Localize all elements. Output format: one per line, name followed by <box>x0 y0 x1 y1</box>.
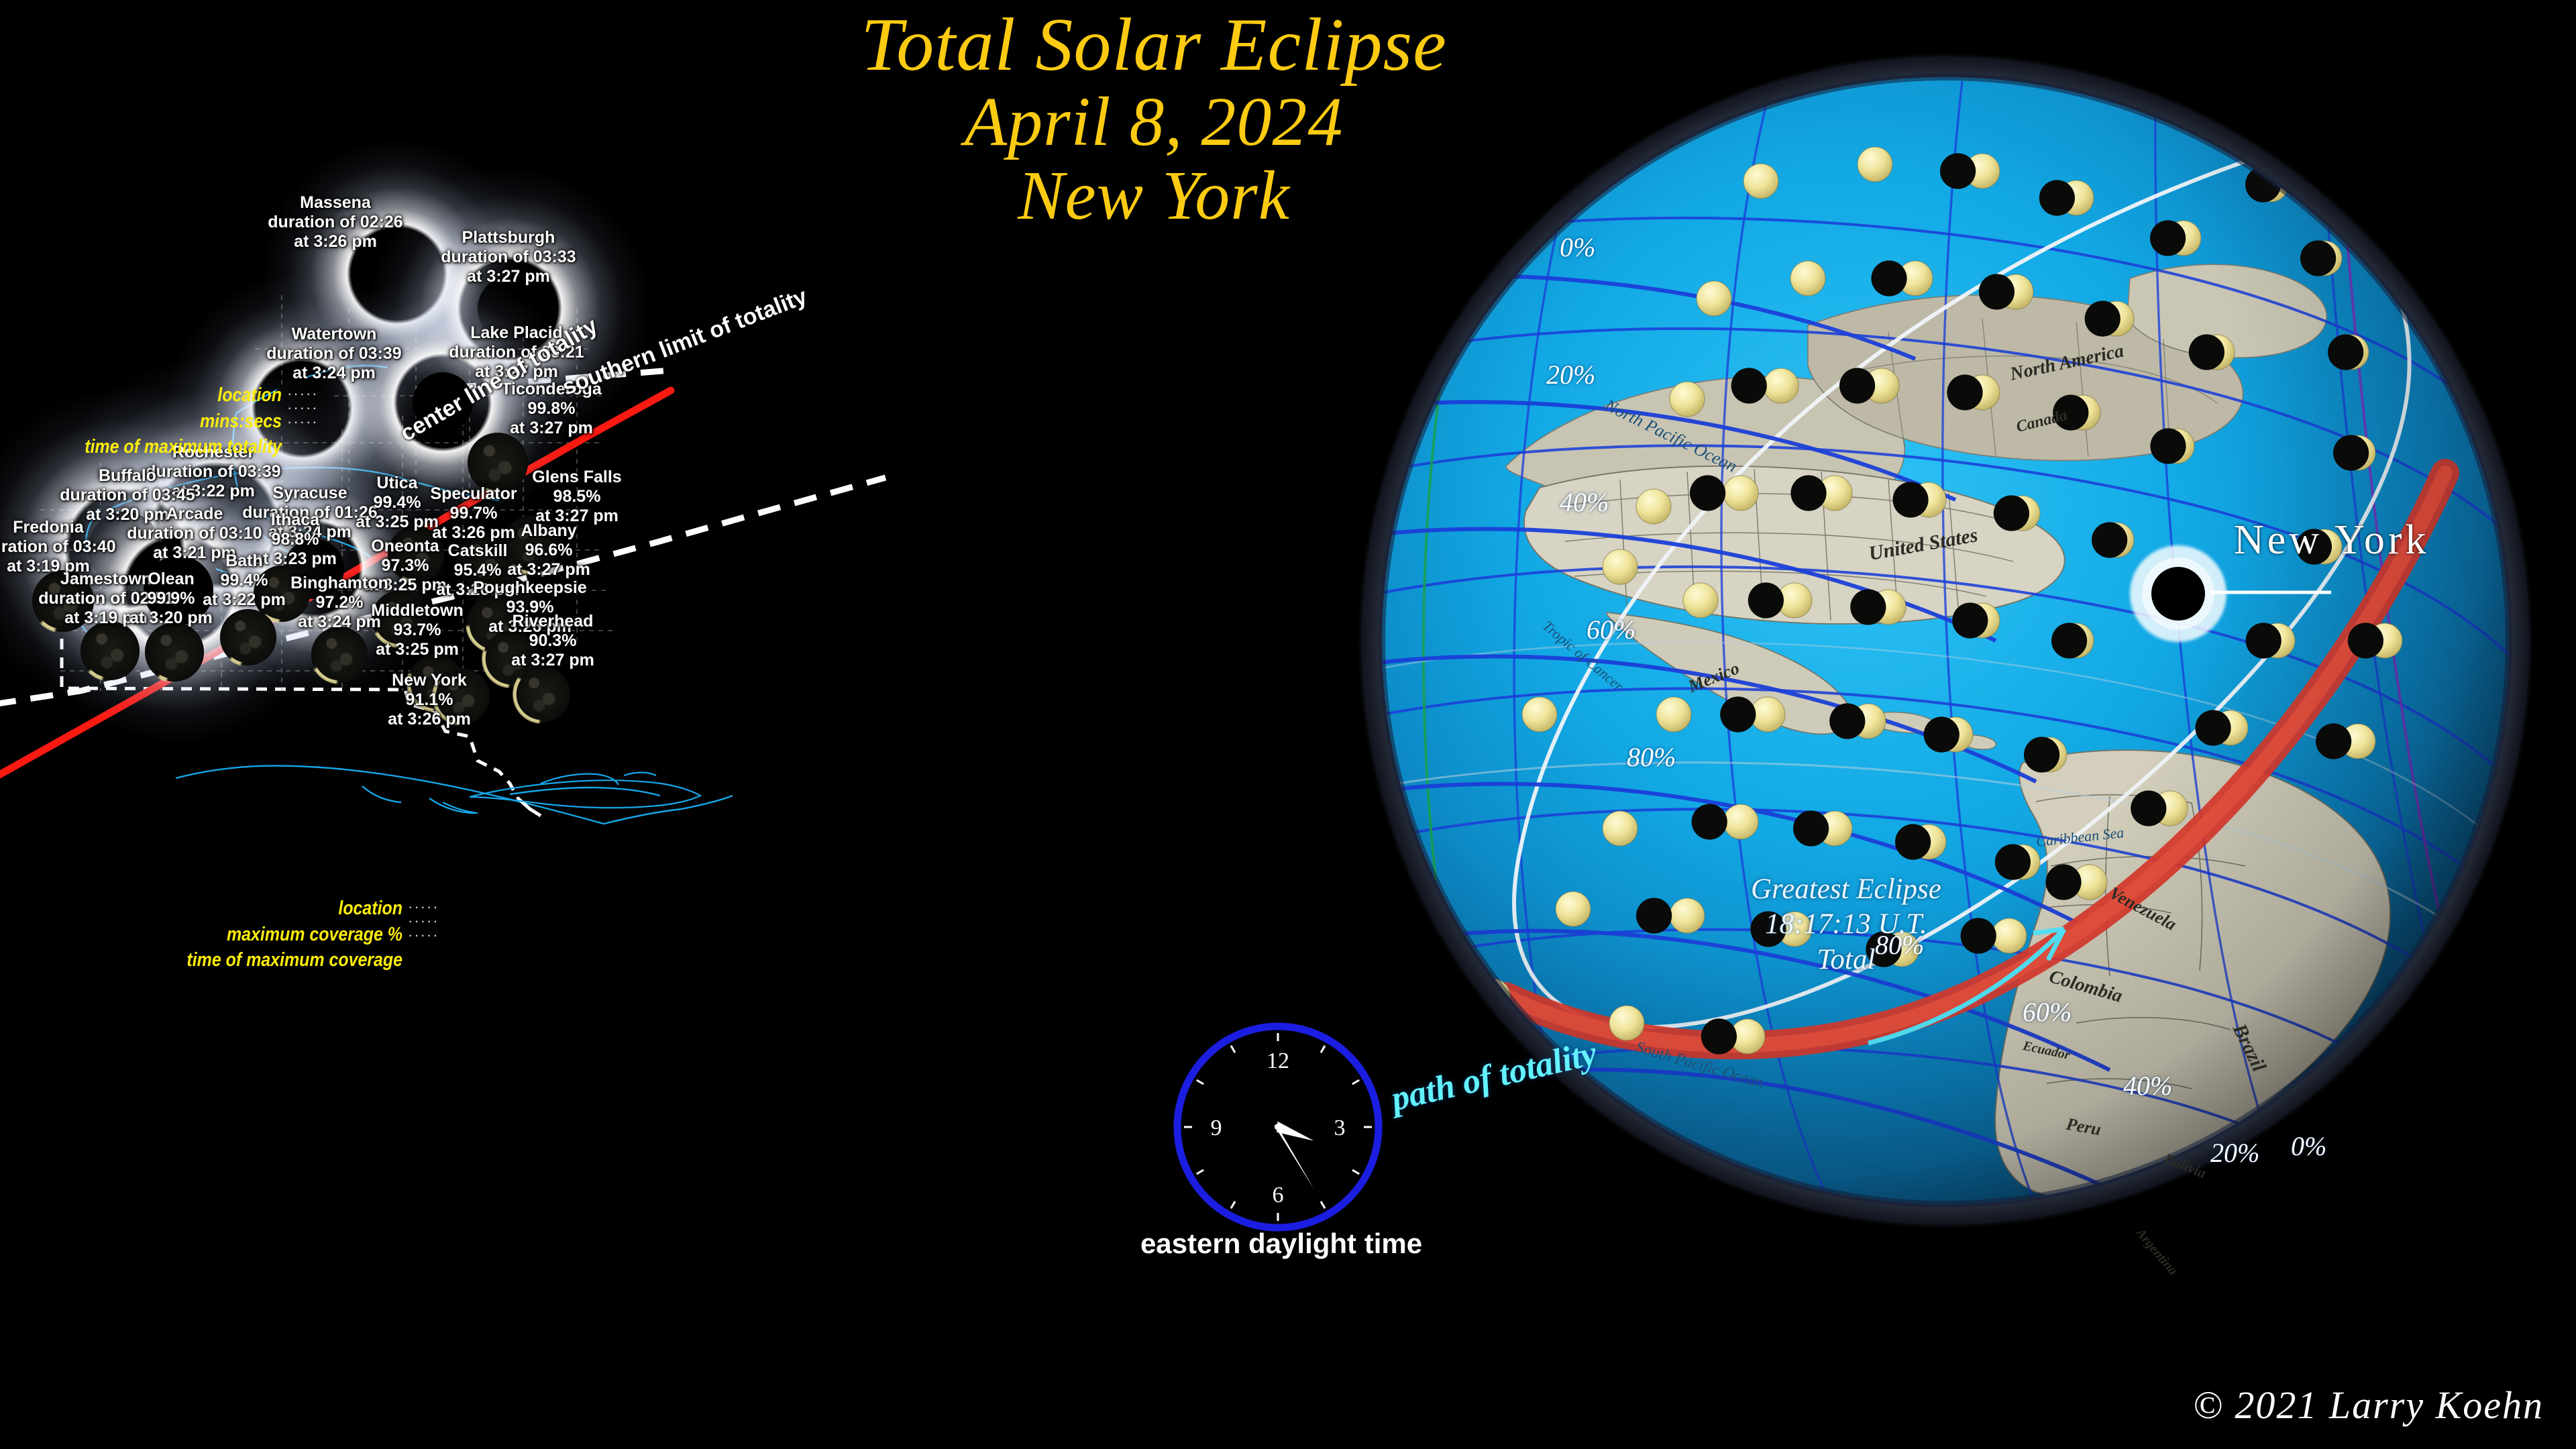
eclipse-magnitude-symbol <box>2150 428 2194 464</box>
legend-coverage-line2: maximum coverage % <box>56 922 402 948</box>
city-label[interactable]: New York91.1%at 3:26 pm <box>388 671 471 729</box>
city-time: at 3:24 pm <box>266 364 401 383</box>
clock-face: 12 3 6 9 <box>1171 1020 1385 1234</box>
city-label[interactable]: Middletown93.7%at 3:25 pm <box>371 601 463 659</box>
greatest-eclipse-title: Greatest Eclipse <box>1751 872 1941 907</box>
legend-coverage-line3: time of maximum coverage <box>56 947 402 973</box>
eclipse-magnitude-symbol <box>1979 274 2033 309</box>
copyright-notice: © 2021 Larry Koehn <box>2193 1383 2544 1428</box>
city-label[interactable]: Riverhead90.3%at 3:27 pm <box>511 612 594 670</box>
eclipse-magnitude-symbol <box>1683 583 1718 618</box>
city-coverage: 99.9% <box>129 589 213 608</box>
eclipse-magnitude-symbol <box>2131 790 2188 826</box>
greatest-eclipse-annotation: Greatest Eclipse 18:17:13 U.T. Total <box>1751 872 1941 977</box>
city-name: Watertown <box>266 325 401 344</box>
city-name: Arcade <box>127 504 262 524</box>
eclipse-magnitude-symbol <box>1670 382 1705 417</box>
city-name: Utica <box>356 474 439 493</box>
eclipse-magnitude-symbol <box>1656 697 1691 732</box>
city-time: at 3:26 pm <box>388 710 471 729</box>
legend-coverage-line1: location <box>56 896 402 922</box>
eclipse-magnitude-symbol <box>2039 180 2094 215</box>
city-label[interactable]: Albany96.6%at 3:27 pm <box>507 521 590 580</box>
legend-totality-dots: ··············· <box>287 386 327 429</box>
city-label[interactable]: Speculator99.7%at 3:26 pm <box>430 484 517 543</box>
globe-new-york-label: New York <box>2234 517 2429 564</box>
city-time: at 3:27 pm <box>501 419 602 438</box>
legend-totality-line1: location <box>40 382 282 409</box>
title-line-date: April 8, 2024 <box>684 85 1623 159</box>
title-line-eclipse: Total Solar Eclipse <box>684 5 1623 85</box>
city-label[interactable]: Fredoniaduration of 03:40at 3:19 pm <box>0 518 116 576</box>
eclipse-magnitude-symbol <box>1603 811 1638 846</box>
city-coverage: duration of 03:40 <box>0 537 116 557</box>
clock-numeral-12: 12 <box>1267 1049 1289 1073</box>
clock-numeral-6: 6 <box>1273 1183 1284 1207</box>
globe-shading <box>1382 77 2509 1204</box>
city-coverage: 90.3% <box>511 631 594 651</box>
eclipse-magnitude-symbol <box>1793 810 1852 846</box>
eclipse-magnitude-symbol <box>2316 723 2375 759</box>
eclipse-magnitude-symbol <box>2085 301 2134 336</box>
city-name: Speculator <box>430 484 517 504</box>
city-duration: duration of 03:39 <box>266 344 401 364</box>
city-name: Massena <box>268 193 402 213</box>
clock-caption: eastern daylight time <box>1073 1228 1489 1260</box>
eclipse-magnitude-symbol <box>1994 495 2040 531</box>
eclipse-magnitude-symbol <box>1892 482 1946 517</box>
eclipse-magnitude-symbol <box>1522 697 1557 732</box>
city-time: at 3:20 pm <box>129 608 213 628</box>
city-coverage: 98.8% <box>254 530 337 549</box>
city-time: at 3:25 pm <box>356 513 439 532</box>
city-name: New York <box>388 671 471 690</box>
eclipse-magnitude-symbol <box>1636 489 1671 524</box>
eastern-daylight-clock: 12 3 6 9 <box>1171 1020 1385 1241</box>
legend-totality-line3: time of maximum totality <box>40 434 282 460</box>
eclipse-magnitude-symbol <box>2024 737 2067 772</box>
eclipse-magnitude-symbol <box>1603 549 1638 584</box>
city-name: Oneonta <box>364 537 447 556</box>
eclipse-magnitude-symbol <box>1952 602 2000 638</box>
city-time: at 3:27 pm <box>507 560 590 580</box>
city-name: Binghamton <box>290 574 388 593</box>
city-label[interactable]: Olean99.9%at 3:20 pm <box>129 570 213 628</box>
eclipse-magnitude-symbol <box>1858 147 1892 182</box>
eclipse-magnitude-symbol <box>2328 334 2369 370</box>
city-coverage: 96.6% <box>507 541 590 560</box>
eclipse-magnitude-symbol <box>1995 844 2040 879</box>
eclipse-magnitude-symbol <box>1947 374 2000 410</box>
eclipse-magnitude-symbol <box>1850 589 1906 625</box>
city-name: Albany <box>507 521 590 541</box>
eclipse-magnitude-symbol <box>1924 716 1973 752</box>
city-coverage: 98.5% <box>532 487 621 506</box>
legend-coverage-dots: ··············· <box>408 900 448 942</box>
eclipse-magnitude-symbol <box>1940 153 2000 189</box>
eclipse-magnitude-symbol <box>1609 1006 1644 1040</box>
eclipse-magnitude-symbol <box>1829 703 1886 739</box>
city-name: Plattsburgh <box>441 228 576 248</box>
eclipse-magnitude-symbol <box>2051 623 2094 658</box>
city-name: Middletown <box>371 601 463 621</box>
city-label[interactable]: Massenaduration of 02:26at 3:26 pm <box>268 193 402 252</box>
city-label[interactable]: Plattsburghduration of 03:33at 3:27 pm <box>441 228 576 286</box>
city-duration: duration of 03:10 <box>127 524 262 543</box>
city-label[interactable]: Bath99.4%at 3:22 pm <box>203 551 286 610</box>
city-coverage: 97.3% <box>364 556 447 576</box>
city-coverage: 99.4% <box>203 571 286 590</box>
eclipse-magnitude-symbol <box>1839 368 1899 403</box>
city-name: Olean <box>129 570 213 589</box>
eclipse-magnitude-symbol <box>2300 240 2342 276</box>
eclipse-magnitude-symbol <box>1697 281 1731 316</box>
eclipse-magnitude-symbol <box>2189 334 2235 370</box>
greatest-eclipse-type: Total <box>1751 943 1941 977</box>
eclipse-magnitude-symbol <box>2053 394 2100 430</box>
city-label[interactable]: Utica99.4%at 3:25 pm <box>356 474 439 532</box>
eclipse-magnitude-symbol <box>2092 522 2134 557</box>
city-name: Bath <box>203 551 286 571</box>
city-coverage: 99.4% <box>356 493 439 513</box>
city-time: at 3:27 pm <box>441 267 576 286</box>
legend-totality: location mins:secs time of maximum total… <box>40 382 282 460</box>
city-name: Ithaca <box>254 511 337 530</box>
greatest-eclipse-time: 18:17:13 U.T. <box>1751 907 1941 942</box>
city-coverage: 93.7% <box>371 621 463 640</box>
eclipse-magnitude-symbol <box>1556 892 1591 926</box>
city-duration: duration of 03:33 <box>441 248 576 267</box>
city-coverage: 95.4% <box>436 561 519 580</box>
city-name: Riverhead <box>511 612 594 631</box>
new-york-eclipse-map: center line of totality southern limit o… <box>0 174 1261 1114</box>
city-coverage: 99.8% <box>501 399 602 419</box>
clock-numeral-9: 9 <box>1211 1116 1222 1140</box>
city-time: at 3:22 pm <box>203 590 286 610</box>
city-label[interactable]: Watertownduration of 03:39at 3:24 pm <box>266 325 401 383</box>
title-line-region: New York <box>684 159 1623 233</box>
clock-numeral-3: 3 <box>1334 1116 1346 1140</box>
eclipse-magnitude-symbol <box>2150 220 2201 256</box>
clock-center-pin <box>1275 1124 1281 1130</box>
eclipse-magnitude-symbol <box>1790 261 1825 296</box>
city-duration: duration of 02:26 <box>268 213 402 232</box>
legend-totality-line2: mins:secs <box>40 409 282 435</box>
city-duration: duration of 03:45 <box>60 486 195 505</box>
city-time: at 3:26 pm <box>268 232 402 252</box>
legend-coverage: location maximum coverage % time of maxi… <box>56 896 402 973</box>
city-name: Fredonia <box>0 518 116 537</box>
city-name: Catskill <box>436 541 519 561</box>
eclipse-magnitude-symbol <box>2246 623 2295 658</box>
city-name: Poughkeepsie <box>473 578 587 598</box>
city-name: Glens Falls <box>532 468 621 487</box>
city-name: Buffalo <box>60 466 195 486</box>
eclipse-magnitude-symbol <box>2333 435 2375 470</box>
city-time: at 3:25 pm <box>371 640 463 659</box>
eclipse-magnitude-symbol <box>1895 824 1946 859</box>
city-coverage: 91.1% <box>388 690 471 710</box>
city-time: at 3:27 pm <box>511 651 594 670</box>
eclipse-magnitude-symbol <box>2195 710 2248 745</box>
city-label[interactable]: Glens Falls98.5%at 3:27 pm <box>532 468 621 526</box>
eclipse-magnitude-symbol <box>2348 623 2402 658</box>
page-title: Total Solar Eclipse April 8, 2024 New Yo… <box>684 5 1623 233</box>
city-coverage: 99.7% <box>430 504 517 523</box>
eclipse-magnitude-symbol <box>1743 164 1778 199</box>
